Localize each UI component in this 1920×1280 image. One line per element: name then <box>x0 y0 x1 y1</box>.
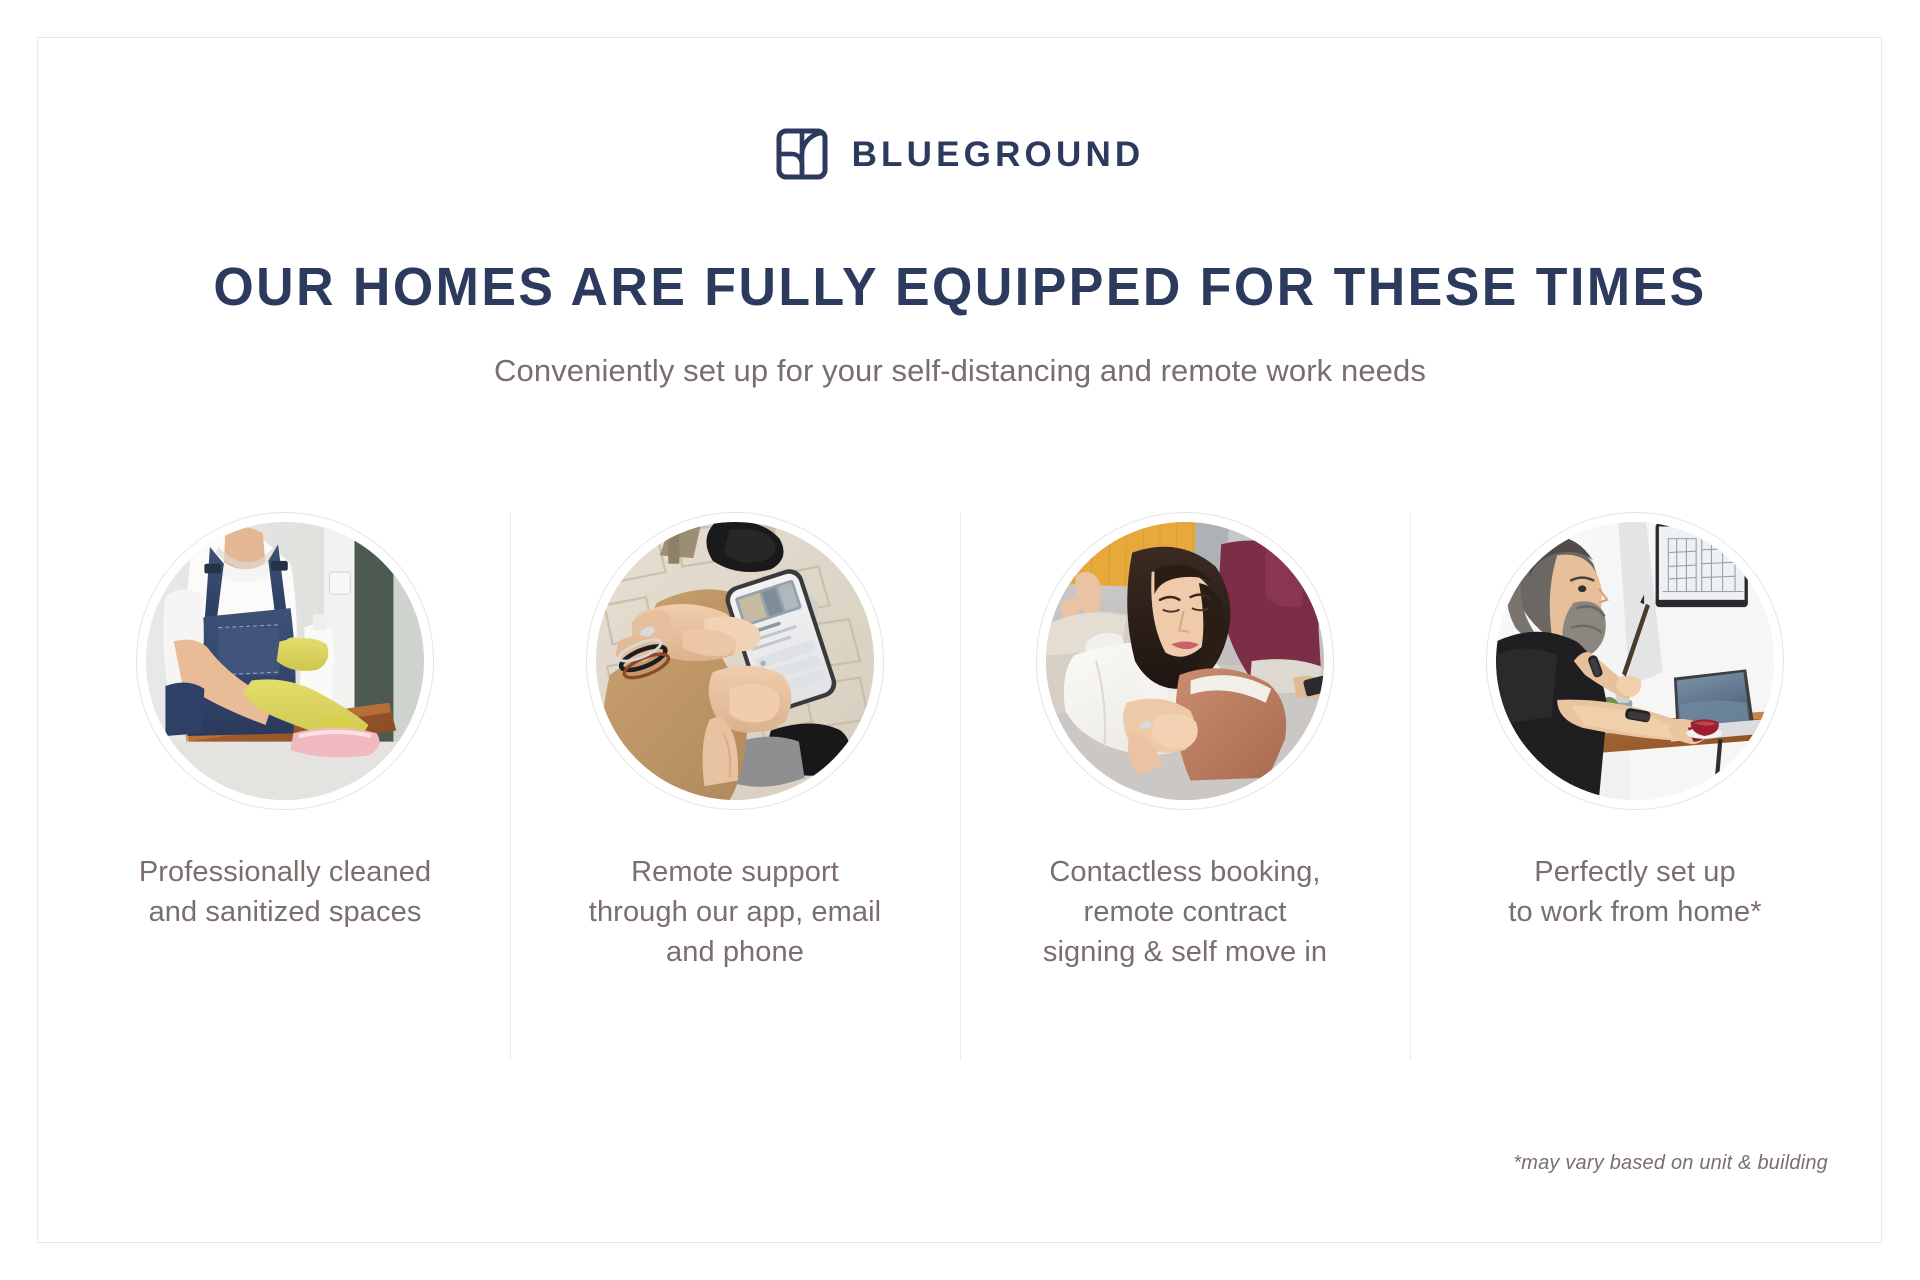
poster-canvas: BLUEGROUND OUR HOMES ARE FULLY EQUIPPED … <box>0 0 1920 1280</box>
blueground-square-mark-icon <box>776 128 828 180</box>
brand-lockup: BLUEGROUND <box>0 128 1920 180</box>
photo-ring <box>1036 512 1334 810</box>
footnote-disclaimer: *may vary based on unit & building <box>1513 1152 1828 1175</box>
feature-card-work-from-home: Perfectly set up to work from home* <box>1410 512 1860 1060</box>
brand-wordmark: BLUEGROUND <box>852 137 1145 172</box>
contactless-booking-photo <box>1046 522 1324 800</box>
feature-card-cleaning: Professionally cleaned and sanitized spa… <box>60 512 510 1060</box>
feature-card-contactless: Contactless booking, remote contract sig… <box>960 512 1410 1060</box>
feature-caption: Perfectly set up to work from home* <box>1508 852 1761 932</box>
page-title: OUR HOMES ARE FULLY EQUIPPED FOR THESE T… <box>38 258 1881 316</box>
feature-caption: Professionally cleaned and sanitized spa… <box>139 852 431 932</box>
feature-card-remote-support: Remote support through our app, email an… <box>510 512 960 1060</box>
photo-ring <box>136 512 434 810</box>
photo-ring <box>1486 512 1784 810</box>
cleaning-photo <box>146 522 424 800</box>
phone-support-photo <box>596 522 874 800</box>
photo-ring <box>586 512 884 810</box>
feature-row: Professionally cleaned and sanitized spa… <box>60 512 1860 1060</box>
feature-caption: Contactless booking, remote contract sig… <box>1043 852 1327 972</box>
page-subtitle: Conveniently set up for your self-distan… <box>0 352 1920 391</box>
feature-caption: Remote support through our app, email an… <box>589 852 881 972</box>
work-from-home-photo <box>1496 522 1774 800</box>
